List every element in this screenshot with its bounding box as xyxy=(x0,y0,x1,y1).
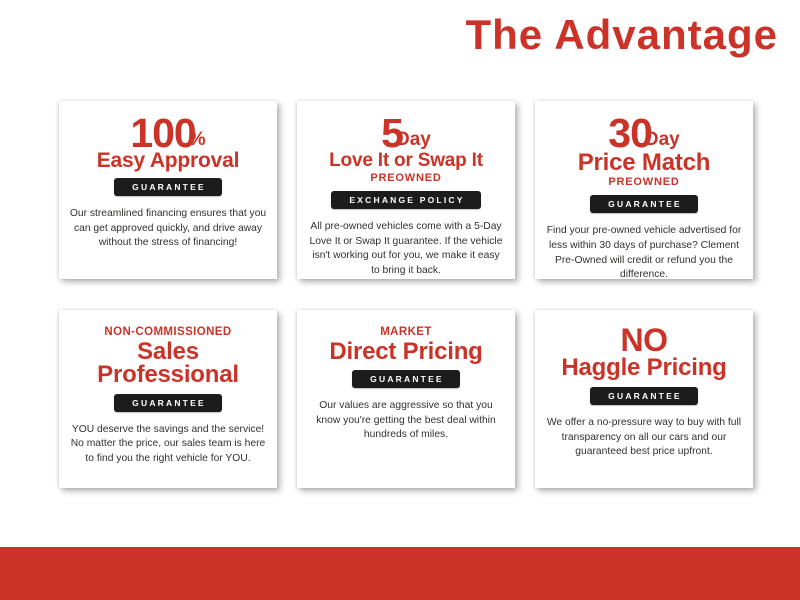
card-headline: MARKET Direct Pricing xyxy=(307,326,505,363)
card-subline: PREOWNED xyxy=(545,176,743,188)
big-number-row: 100 % xyxy=(69,117,267,150)
card-headline: NO Haggle Pricing xyxy=(545,326,743,380)
advantage-slide: The Advantage 100 % Easy Approval GUARAN… xyxy=(0,0,800,600)
card-body-text: YOU deserve the savings and the service!… xyxy=(69,423,267,467)
card-body-text: We offer a no-pressure way to buy with f… xyxy=(545,416,743,460)
card-subline: PREOWNED xyxy=(307,172,505,184)
card-title: Sales Professional xyxy=(69,340,267,387)
card-title: Direct Pricing xyxy=(307,340,505,364)
card-body-text: Our values are aggressive so that you kn… xyxy=(307,399,505,443)
advantage-card-sales-professional[interactable]: NON-COMMISSIONED Sales Professional GUAR… xyxy=(59,310,277,488)
card-title: Love It or Swap It xyxy=(307,151,505,170)
page-title: The Advantage xyxy=(466,14,779,56)
card-title: Easy Approval xyxy=(69,151,267,171)
big-number-row: 30 Day xyxy=(545,117,743,150)
card-body-text: Find your pre-owned vehicle advertised f… xyxy=(545,224,743,279)
exchange-policy-badge: EXCHANGE POLICY xyxy=(331,191,480,209)
card-headline: 30 Day Price Match PREOWNED xyxy=(545,117,743,188)
big-number-suffix: % xyxy=(189,130,206,149)
advantage-card-love-it-or-swap-it[interactable]: 5 Day Love It or Swap It PREOWNED EXCHAN… xyxy=(297,101,515,279)
card-headline: 100 % Easy Approval xyxy=(69,117,267,171)
advantage-card-easy-approval[interactable]: 100 % Easy Approval GUARANTEE Our stream… xyxy=(59,101,277,279)
card-headline: 5 Day Love It or Swap It PREOWNED xyxy=(307,117,505,184)
advantage-card-direct-pricing[interactable]: MARKET Direct Pricing GUARANTEE Our valu… xyxy=(297,310,515,488)
footer-accent-bar xyxy=(0,547,800,600)
advantage-card-grid: 100 % Easy Approval GUARANTEE Our stream… xyxy=(59,101,753,488)
big-number-row: 5 Day xyxy=(307,117,505,150)
guarantee-badge: GUARANTEE xyxy=(352,370,460,388)
guarantee-badge: GUARANTEE xyxy=(114,178,222,196)
card-body-text: All pre-owned vehicles come with a 5-Day… xyxy=(307,220,505,278)
big-number-suffix: Day xyxy=(396,130,431,149)
advantage-card-no-haggle-pricing[interactable]: NO Haggle Pricing GUARANTEE We offer a n… xyxy=(535,310,753,488)
guarantee-badge: GUARANTEE xyxy=(590,387,698,405)
card-word-big: NO xyxy=(545,326,743,355)
card-eyebrow: MARKET xyxy=(307,326,505,339)
card-title: Price Match xyxy=(545,151,743,175)
guarantee-badge: GUARANTEE xyxy=(114,394,222,412)
guarantee-badge: GUARANTEE xyxy=(590,195,698,213)
card-body-text: Our streamlined financing ensures that y… xyxy=(69,207,267,251)
advantage-card-price-match[interactable]: 30 Day Price Match PREOWNED GUARANTEE Fi… xyxy=(535,101,753,279)
card-title: Haggle Pricing xyxy=(545,356,743,380)
big-number-suffix: Day xyxy=(645,130,680,149)
card-eyebrow: NON-COMMISSIONED xyxy=(69,326,267,339)
card-headline: NON-COMMISSIONED Sales Professional xyxy=(69,326,267,387)
big-number: 100 xyxy=(130,117,195,150)
